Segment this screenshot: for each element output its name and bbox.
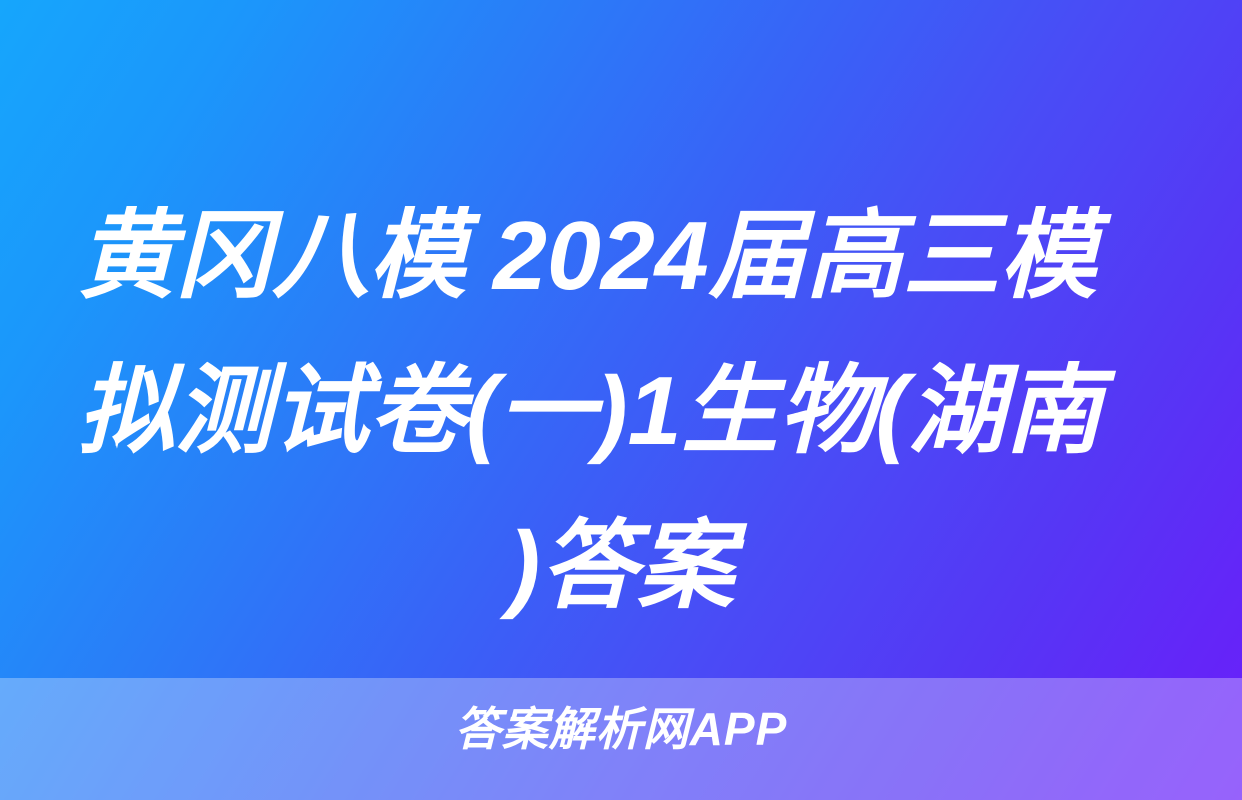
title-line-1: 黄冈八模 2024届高三模 (78, 178, 1164, 333)
watermark-text: 答案解析网APP (0, 703, 1242, 755)
watermark-brand-zh: 答案解析网 (455, 703, 690, 755)
promo-card: 黄冈八模 2024届高三模 拟测试卷(一)1生物(湖南 )答案 答案解析网APP (0, 0, 1242, 800)
title-line-2: 拟测试卷(一)1生物(湖南 (78, 333, 1164, 488)
page-title: 黄冈八模 2024届高三模 拟测试卷(一)1生物(湖南 )答案 (0, 178, 1242, 643)
title-line-3: )答案 (78, 488, 1164, 643)
watermark-brand-en: APP (690, 703, 788, 755)
